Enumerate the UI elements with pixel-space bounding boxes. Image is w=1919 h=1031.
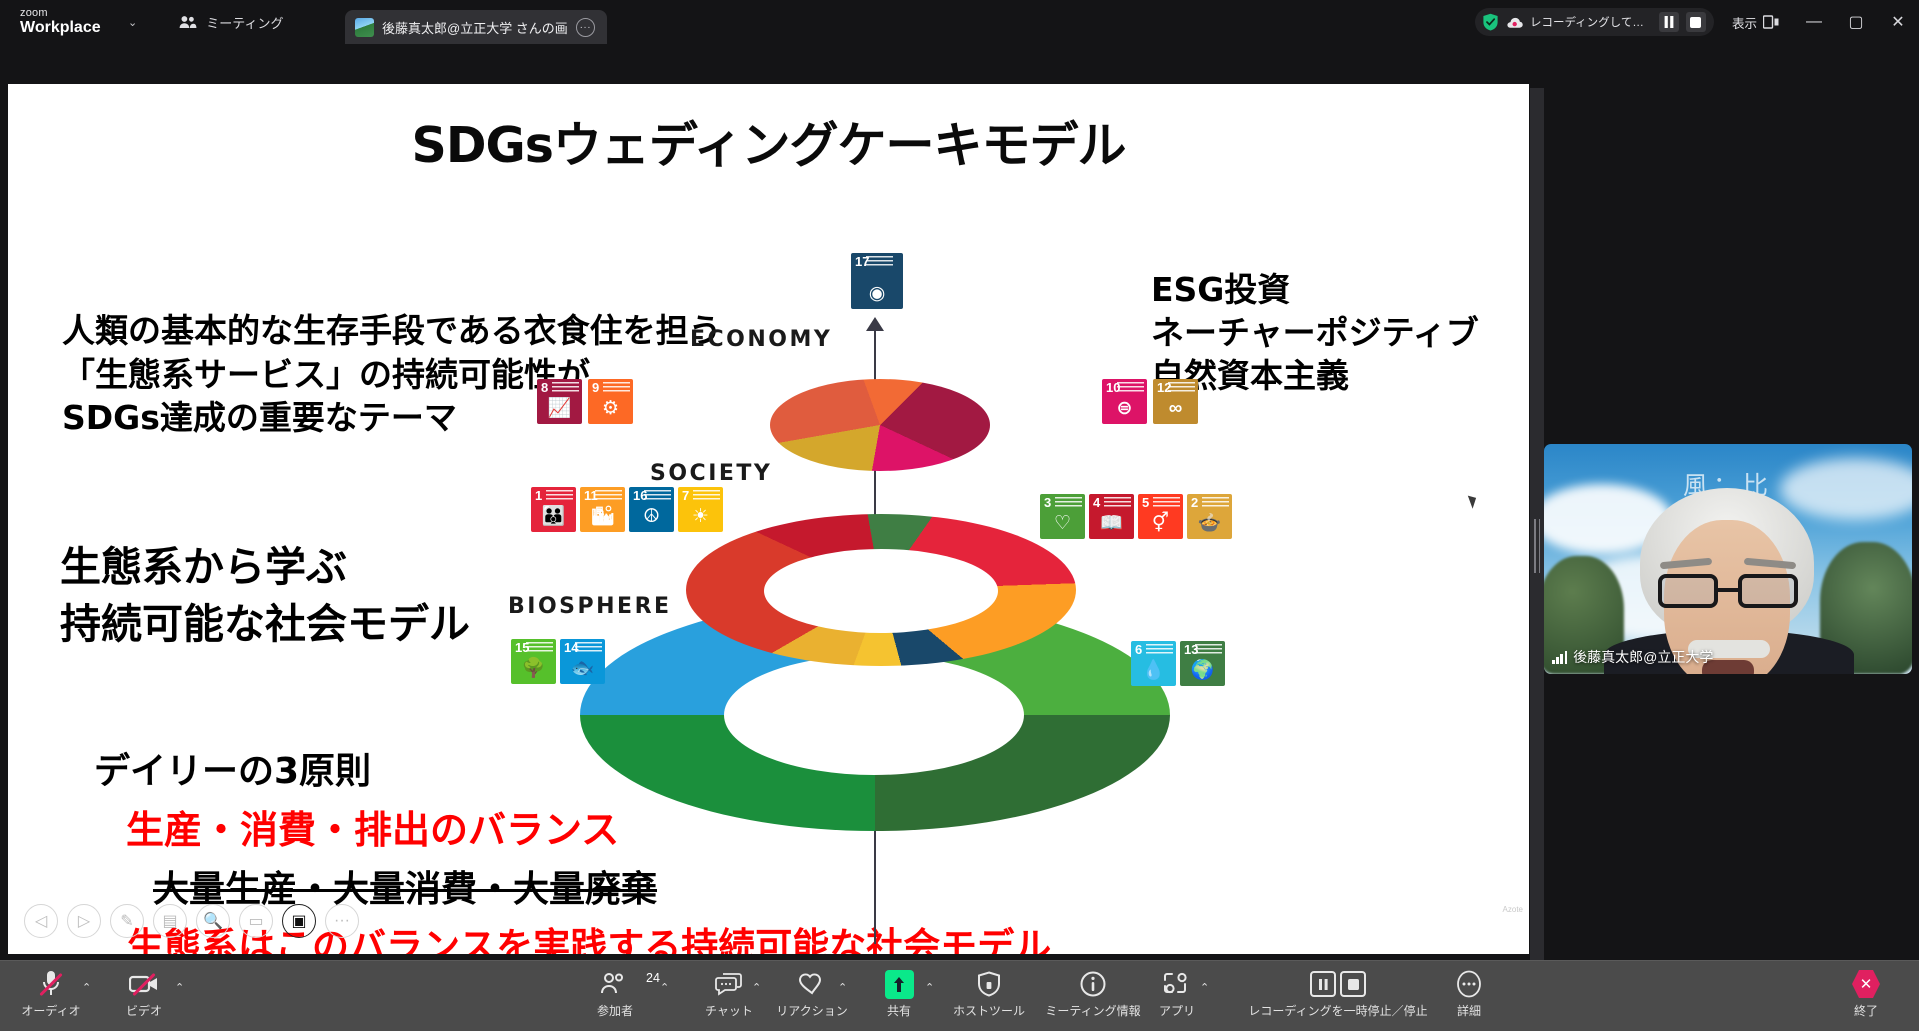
zoom-workplace-logo: zoom Workplace <box>20 8 112 36</box>
recording-label: レコーディングを一時停止／停止 <box>1248 1002 1427 1019</box>
sdg-goal-8: 8 📈 <box>537 379 582 424</box>
sdg-goal-4-number: 4 <box>1093 496 1100 509</box>
chevron-down-icon[interactable]: ⌄ <box>128 16 137 29</box>
host-tools-label: ホストツール <box>953 1002 1025 1019</box>
info-icon <box>1080 967 1106 1001</box>
sdg-goal-13: 13 🌍 <box>1180 641 1225 686</box>
sdg-goal-8-title-bars <box>552 382 579 394</box>
video-button[interactable]: ビデオ <box>107 967 181 1019</box>
sdg-goal-7: 7 ☀ <box>678 487 723 532</box>
sdg-goal-9-title-bars <box>603 382 630 394</box>
share-caret[interactable]: ⌃ <box>925 981 934 994</box>
annotate-pen-icon[interactable]: ✎ <box>110 904 144 938</box>
titlebar-right-controls: レコーディングしています… 表示 — ▢ ✕ <box>1475 0 1919 44</box>
sdg-goal-3-title-bars <box>1055 497 1082 509</box>
meeting-info-button[interactable]: ミーティング情報 <box>1038 967 1148 1019</box>
sdg-goal-17-glyph: ◉ <box>851 282 903 305</box>
brand-zoom: zoom <box>20 8 112 19</box>
sdg-wedding-cake-diagram: 17 ◉ ECONOMY SOCIETY BIOSPHERE 8 <box>508 239 1268 954</box>
sdg-goal-2-glyph: 🍲 <box>1187 511 1232 535</box>
subtitle-icon[interactable]: ▭ <box>239 904 273 938</box>
sdg-goal-9-number: 9 <box>592 381 599 394</box>
sdg-goal-7-title-bars <box>693 490 720 502</box>
next-slide-button[interactable]: ▷ <box>67 904 101 938</box>
participants-count: 24 <box>646 971 660 985</box>
maximize-button[interactable]: ▢ <box>1835 0 1877 44</box>
resize-grip-line <box>1539 519 1541 573</box>
mouse-cursor <box>1468 493 1479 509</box>
participant-name-label: 後藤真太郎@立正大学 <box>1573 647 1713 667</box>
sdg-goal-7-glyph: ☀ <box>678 505 723 528</box>
sdg-goal-4-title-bars <box>1104 497 1131 509</box>
sdg-goal-14-title-bars <box>575 642 602 654</box>
end-hexagon: ✕ <box>1852 970 1880 998</box>
sdg-goal-5-number: 5 <box>1142 496 1149 509</box>
share-screen-icon <box>885 967 914 1001</box>
page-title: SDGsウェディングケーキモデル <box>8 106 1529 177</box>
apps-caret[interactable]: ⌃ <box>1200 981 1209 994</box>
view-menu-label[interactable]: 表示 <box>1732 13 1757 32</box>
resize-grip-line <box>1534 519 1536 573</box>
sdg-goal-5: 5 ⚥ <box>1138 494 1183 539</box>
meetings-nav-item[interactable]: ミーティング <box>165 7 297 37</box>
sdg-goal-6-number: 6 <box>1135 643 1142 656</box>
sdg-goal-12-title-bars <box>1168 382 1195 394</box>
sdg-goal-16-glyph: ☮ <box>629 505 674 528</box>
shared-screen-tab[interactable]: 後藤真太郎@立正大学 さんの画 ··· <box>345 10 607 44</box>
daily-principle-heading: デイリーの3原則 <box>94 742 371 794</box>
recording-status-pill[interactable]: レコーディングしています… <box>1475 8 1714 36</box>
cloud-recording-icon <box>1506 16 1523 29</box>
layer-label-economy: ECONOMY <box>690 327 832 352</box>
meetings-nav-label: ミーティング <box>206 13 283 32</box>
sdg-goal-13-glyph: 🌍 <box>1180 658 1225 682</box>
tab-more-icon[interactable]: ··· <box>576 18 595 37</box>
microphone-muted-icon <box>40 967 62 1001</box>
shared-screen-tab-label: 後藤真太郎@立正大学 さんの画 <box>382 18 568 37</box>
economy-cylinder-top <box>770 379 990 471</box>
slide-control-toolbar: ◁ ▷ ✎ ▤ 🔍 ▭ ▣ ··· <box>16 904 359 938</box>
left-text-block-2: 生態系から学ぶ 持続可能な社会モデル <box>60 539 470 652</box>
sdg-goal-6-title-bars <box>1146 644 1173 656</box>
participant-name-badge: 後藤真太郎@立正大学 <box>1552 647 1713 667</box>
sdg-goal-3-number: 3 <box>1044 496 1051 509</box>
end-label: 終了 <box>1854 1002 1878 1019</box>
apps-icon <box>1163 967 1191 1001</box>
sdg-goal-12-glyph: ∞ <box>1153 398 1198 420</box>
more-button[interactable]: 詳細 <box>1432 967 1506 1019</box>
zoom-meeting-window: zoom Workplace ⌄ ミーティング 後藤真太郎@立正大学 さんの画 … <box>0 0 1919 1031</box>
sdg-goal-15: 15 🌳 <box>511 639 556 684</box>
stop-recording-button[interactable] <box>1686 12 1706 32</box>
signal-strength-icon <box>1552 651 1567 664</box>
sdg-goal-6: 6 💧 <box>1131 641 1176 686</box>
sdg-goal-2-title-bars <box>1202 497 1229 509</box>
more-options-icon[interactable]: ··· <box>325 904 359 938</box>
heart-icon <box>798 967 826 1001</box>
reactions-caret[interactable]: ⌃ <box>838 981 847 994</box>
audio-options-caret[interactable]: ⌃ <box>82 981 91 994</box>
share-label: 共有 <box>887 1002 911 1019</box>
apps-label: アプリ <box>1159 1002 1195 1019</box>
diagram-watermark: Azote <box>1503 905 1523 914</box>
sdg-goal-9-glyph: ⚙ <box>588 397 633 420</box>
shared-content-stage: SDGsウェディングケーキモデル 人類の基本的な生存手段である衣食住を担う 「生… <box>0 44 1919 960</box>
sdg-goal-17-title-bars <box>866 256 893 268</box>
sdg-goal-10: 10 ⊜ <box>1102 379 1147 424</box>
video-options-caret[interactable]: ⌃ <box>175 981 184 994</box>
prev-slide-button[interactable]: ◁ <box>24 904 58 938</box>
sdg-goal-15-glyph: 🌳 <box>511 656 556 680</box>
more-label: 詳細 <box>1457 1002 1481 1019</box>
sdg-goal-3-glyph: ♡ <box>1040 512 1085 535</box>
sdg-goal-8-glyph: 📈 <box>537 396 582 420</box>
end-call-icon: ✕ <box>1852 967 1880 1001</box>
meeting-toolbar: オーディオ ⌃ ビデオ ⌃ 24 参加者 ⌃ <box>0 960 1919 1031</box>
shield-icon <box>977 967 1001 1001</box>
sdg-goal-1-glyph: 👪 <box>531 504 576 528</box>
sdg-goal-16-title-bars <box>644 490 671 502</box>
recording-status-text: レコーディングしています… <box>1530 14 1652 30</box>
sdg-goal-4-glyph: 📖 <box>1089 511 1134 535</box>
layer-label-society: SOCIETY <box>650 461 772 486</box>
glasses-bridge <box>1718 588 1738 592</box>
search-icon[interactable]: 🔍 <box>196 904 230 938</box>
meeting-info-label: ミーティング情報 <box>1045 1002 1140 1019</box>
share-icon-square <box>885 970 914 999</box>
participant-video-tile[interactable]: 風：比 後藤真太郎@立正大学 <box>1544 444 1912 674</box>
sdg-goal-6-glyph: 💧 <box>1131 658 1176 682</box>
sdg-goal-17: 17 ◉ <box>851 253 903 309</box>
sdg-goal-5-title-bars <box>1153 497 1180 509</box>
stop-recording-icon[interactable] <box>1340 971 1366 997</box>
reactions-label: リアクション <box>776 1002 847 1019</box>
lens-left <box>1658 574 1718 608</box>
video-icon[interactable]: ▣ <box>282 904 316 938</box>
sdg-goal-2: 2 🍲 <box>1187 494 1232 539</box>
host-tools-button[interactable]: ホストツール <box>952 967 1026 1019</box>
sdg-goal-10-title-bars <box>1117 382 1144 394</box>
view-layout-icon[interactable] <box>1763 15 1779 29</box>
pause-recording-icon[interactable] <box>1310 971 1336 997</box>
more-horizontal-icon <box>1456 967 1482 1001</box>
audio-label: オーディオ <box>21 1002 80 1019</box>
end-meeting-button[interactable]: ✕ 終了 <box>1829 967 1903 1019</box>
minimize-button[interactable]: — <box>1793 0 1835 44</box>
presentation-slide[interactable]: SDGsウェディングケーキモデル 人類の基本的な生存手段である衣食住を担う 「生… <box>8 84 1529 954</box>
sdg-goal-16: 16 ☮ <box>629 487 674 532</box>
recording-control-button[interactable]: レコーディングを一時停止／停止 <box>1238 967 1438 1019</box>
recording-controls-icon <box>1310 967 1366 1001</box>
sdg-goal-8-number: 8 <box>541 381 548 394</box>
tab-thumbnail-icon <box>355 18 374 37</box>
chat-caret[interactable]: ⌃ <box>752 981 761 994</box>
brand-workplace: Workplace <box>20 20 112 36</box>
participants-label: 参加者 <box>597 1002 633 1019</box>
chat-label: チャット <box>705 1002 753 1019</box>
sdg-goal-1-number: 1 <box>535 489 542 502</box>
sdg-goal-15-title-bars <box>526 642 553 654</box>
title-bar: zoom Workplace ⌄ ミーティング 後藤真太郎@立正大学 さんの画 … <box>0 0 1919 44</box>
sdg-goal-10-glyph: ⊜ <box>1102 397 1147 420</box>
sdg-goal-14-glyph: 🐟 <box>560 656 605 680</box>
sdg-goal-11: 11 🏙 <box>580 487 625 532</box>
lens-right <box>1738 574 1798 608</box>
sdg-goal-7-number: 7 <box>682 489 689 502</box>
shield-check-icon <box>1482 13 1499 31</box>
sdg-goal-11-glyph: 🏙 <box>580 504 625 528</box>
panel-resize-handle[interactable] <box>1530 88 1544 1004</box>
layer-label-biosphere: BIOSPHERE <box>508 594 672 619</box>
sdg-goal-14: 14 🐟 <box>560 639 605 684</box>
people-icon <box>179 15 197 29</box>
sdg-goal-9: 9 ⚙ <box>588 379 633 424</box>
pause-recording-button[interactable] <box>1659 12 1679 32</box>
close-button[interactable]: ✕ <box>1877 0 1919 44</box>
participants-caret[interactable]: ⌃ <box>660 981 669 994</box>
chat-icon <box>715 967 743 1001</box>
sdg-goal-1: 1 👪 <box>531 487 576 532</box>
biosphere-ring-hole <box>724 655 1024 775</box>
audio-button[interactable]: オーディオ <box>14 967 88 1019</box>
sdg-goal-12: 12 ∞ <box>1153 379 1198 424</box>
layout-icon[interactable]: ▤ <box>153 904 187 938</box>
sdg-goal-11-title-bars <box>595 490 622 502</box>
sdg-goal-4: 4 📖 <box>1089 494 1134 539</box>
society-ring-hole <box>764 549 998 633</box>
sdg-goal-3: 3 ♡ <box>1040 494 1085 539</box>
eyeglasses <box>1658 574 1798 608</box>
sdg-goal-13-title-bars <box>1195 644 1222 656</box>
camera-muted-icon <box>129 967 159 1001</box>
sdg-goal-2-number: 2 <box>1191 496 1198 509</box>
sdg-goal-1-title-bars <box>546 490 573 502</box>
video-label: ビデオ <box>126 1002 162 1019</box>
participants-button[interactable]: 24 参加者 <box>578 967 652 1019</box>
participants-icon: 24 <box>600 967 630 1001</box>
sdg-goal-5-glyph: ⚥ <box>1138 512 1183 535</box>
